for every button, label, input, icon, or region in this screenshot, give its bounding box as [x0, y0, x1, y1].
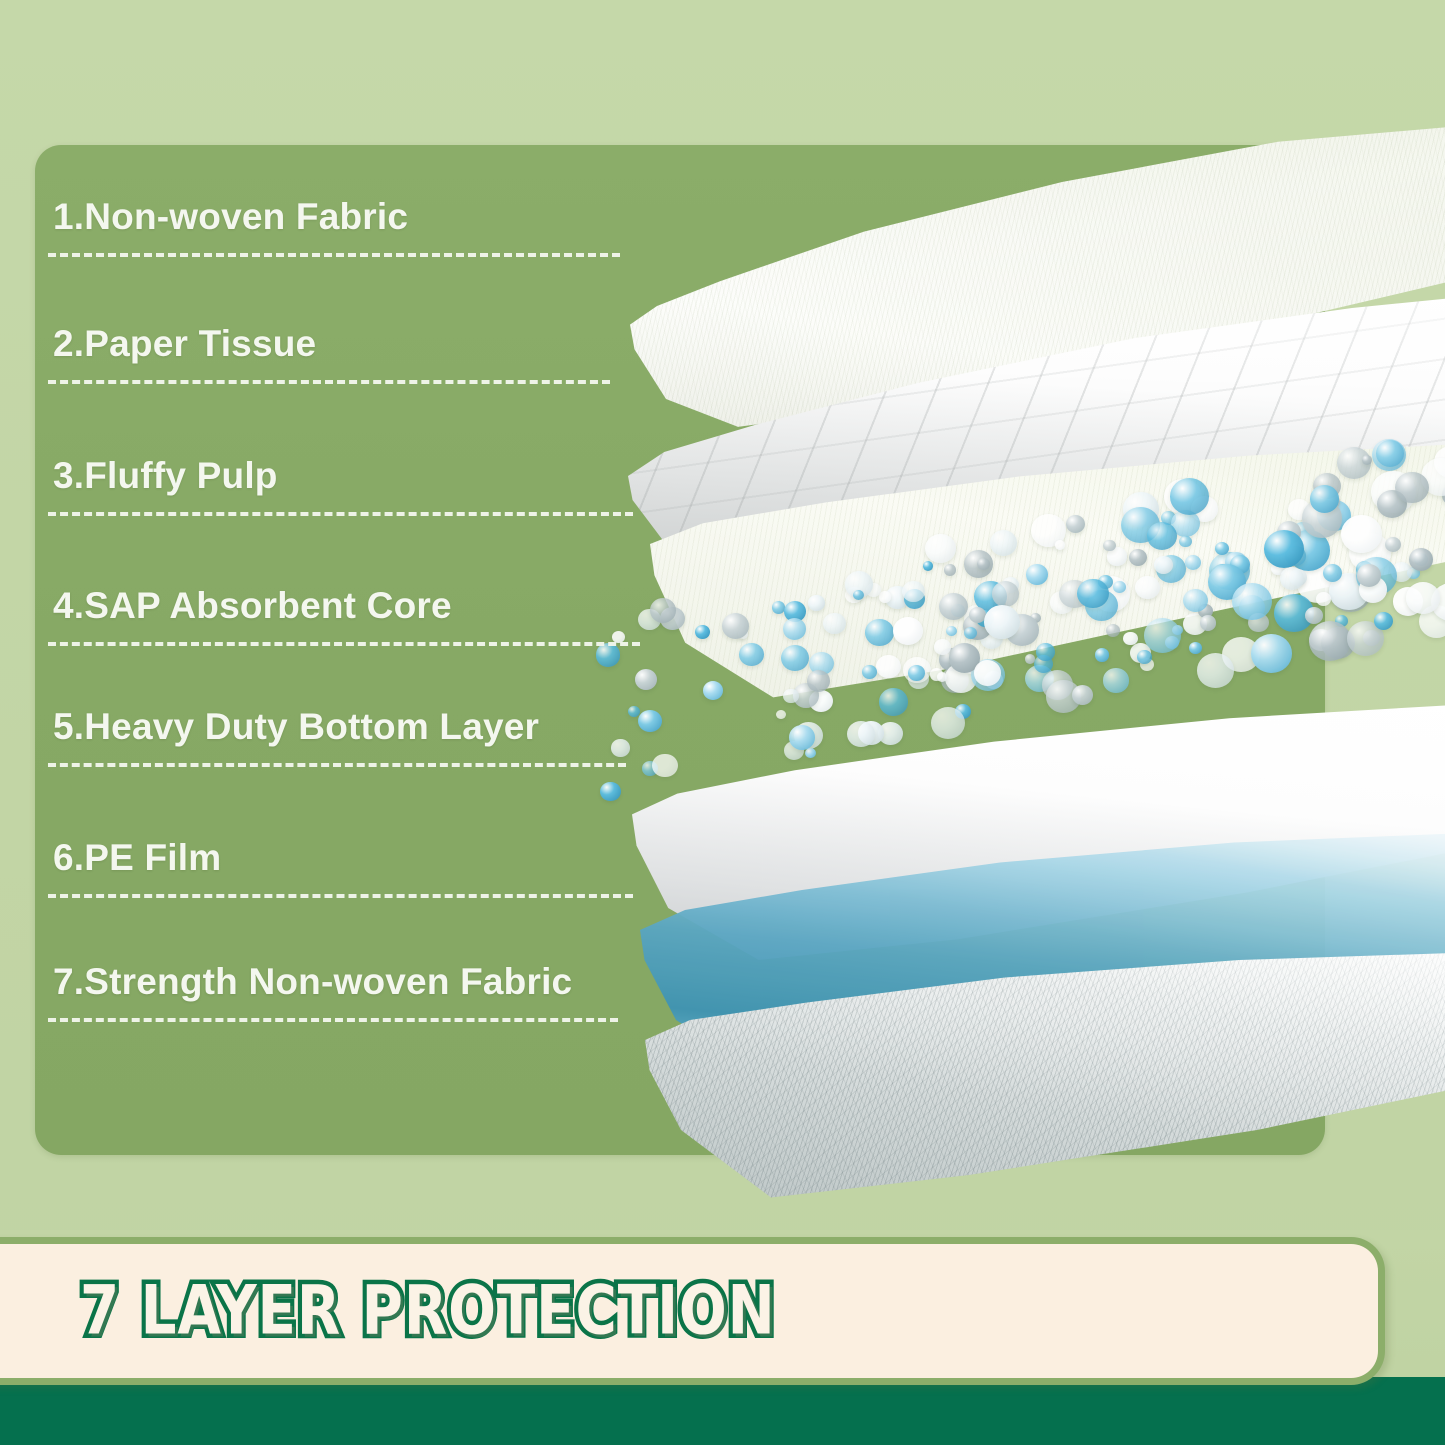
layer-label-6: 6.PE Film — [53, 837, 221, 879]
banner-panel: 7 LAYER PROTECTION — [0, 1237, 1385, 1385]
leader-dash-7 — [48, 1018, 618, 1022]
leader-dash-2 — [48, 380, 610, 384]
layer-label-5: 5.Heavy Duty Bottom Layer — [53, 706, 539, 748]
layer-label-1: 1.Non-woven Fabric — [53, 196, 408, 238]
layer-label-4: 4.SAP Absorbent Core — [53, 585, 452, 627]
layer-label-2: 2.Paper Tissue — [53, 323, 316, 365]
layer-label-7: 7.Strength Non-woven Fabric — [53, 961, 572, 1003]
infographic-page: 1.Non-woven Fabric2.Paper Tissue3.Fluffy… — [0, 0, 1445, 1445]
leader-dash-6 — [48, 894, 633, 898]
page-title: 7 LAYER PROTECTION — [80, 1272, 776, 1351]
layer-label-list: 1.Non-woven Fabric2.Paper Tissue3.Fluffy… — [0, 0, 1445, 1445]
dark-green-bar — [0, 1377, 1445, 1445]
leader-dash-1 — [48, 253, 620, 257]
bottom-banner: 7 LAYER PROTECTION — [0, 1230, 1445, 1445]
leader-dash-3 — [48, 512, 633, 516]
leader-dash-5 — [48, 763, 626, 767]
layer-label-3: 3.Fluffy Pulp — [53, 455, 278, 497]
leader-dash-4 — [48, 642, 640, 646]
